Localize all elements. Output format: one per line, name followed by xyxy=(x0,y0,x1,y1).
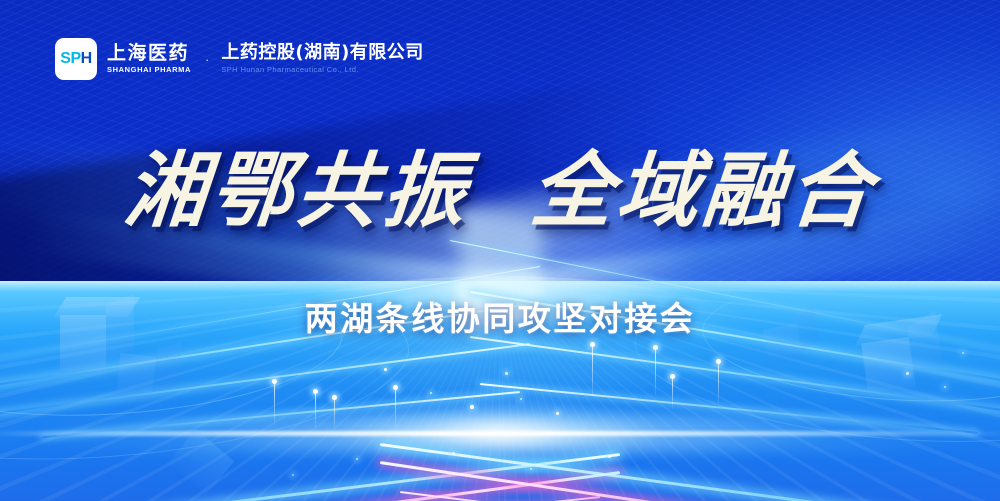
company-name-en: SHANGHAI PHARMA xyxy=(107,66,191,74)
sph-logo-text-part1: SP xyxy=(60,50,80,67)
subsidiary-name-cn: 上药控股(湖南)有限公司 xyxy=(221,44,423,62)
light-pole xyxy=(315,392,316,428)
sparkle-dot xyxy=(356,458,358,460)
sparkle-dot xyxy=(556,412,559,415)
sparkle-dot xyxy=(384,368,387,371)
company-name-cn: 上海医药 xyxy=(107,44,191,63)
subsidiary-name-block: 上药控股(湖南)有限公司 SPH Hunan Pharmaceutical Co… xyxy=(221,44,423,74)
light-pole xyxy=(672,377,673,409)
sparkle-dot xyxy=(906,372,909,375)
light-pole xyxy=(718,362,719,404)
light-pole xyxy=(395,388,396,428)
hero-subtitle: 两湖条线协同攻坚对接会 xyxy=(0,292,1000,340)
sph-logo-text-part2: H xyxy=(81,50,92,67)
sparkle-dot xyxy=(608,455,611,458)
light-pole xyxy=(274,382,275,426)
brand-logo-bar: SPH 上海医药 SHANGHAI PHARMA · 上药控股(湖南)有限公司 … xyxy=(55,38,424,80)
sparkle-dot xyxy=(452,452,455,455)
horizon-core-line xyxy=(0,431,1000,436)
banner-canvas: SPH 上海医药 SHANGHAI PHARMA · 上药控股(湖南)有限公司 … xyxy=(0,0,1000,501)
hero-title-left: 湘鄂共振 xyxy=(121,150,472,232)
hero-title-right: 全域融合 xyxy=(527,150,878,232)
sparkle-dot xyxy=(470,405,474,409)
sparkle-dot xyxy=(530,468,532,470)
sparkle-dot xyxy=(962,352,964,354)
company-name-block: 上海医药 SHANGHAI PHARMA xyxy=(107,44,191,74)
sparkle-dot xyxy=(292,474,294,476)
light-pole xyxy=(655,348,656,396)
sparkle-dot xyxy=(430,392,432,394)
subsidiary-name-en: SPH Hunan Pharmaceutical Co., Ltd. xyxy=(221,66,423,74)
sph-logo-text: SPH xyxy=(60,50,91,68)
sparkle-dot xyxy=(944,386,946,388)
sparkle-dot xyxy=(505,372,508,375)
hero-title-row: 湘鄂共振 全域融合 xyxy=(0,150,1000,232)
sph-logo-mark: SPH xyxy=(55,38,97,80)
light-pole xyxy=(592,345,593,397)
light-pole xyxy=(334,398,335,428)
sparkle-dot xyxy=(520,398,522,400)
logo-separator-dot: · xyxy=(205,52,209,67)
